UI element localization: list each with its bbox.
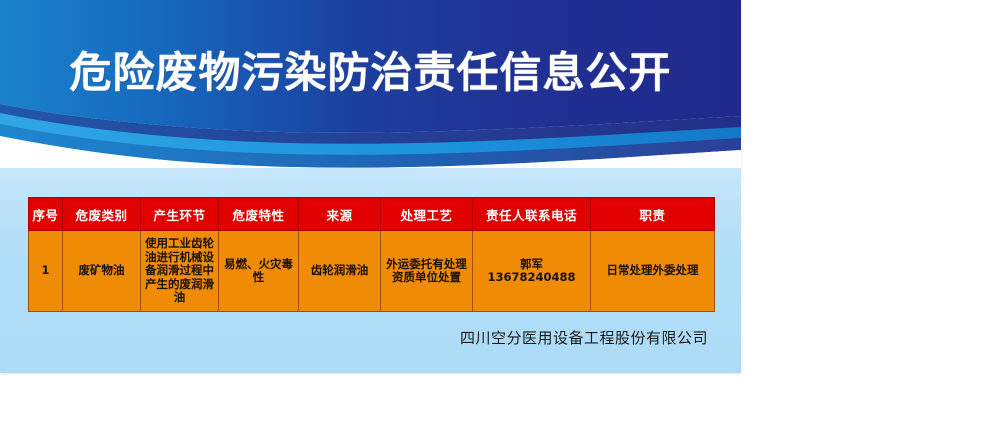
cell-duty: 日常处理外委处理	[591, 231, 715, 312]
cell-process: 外运委托有处理资质单位处置	[381, 231, 473, 312]
column-header-duty: 职责	[591, 198, 715, 231]
cell-category: 废矿物油	[63, 231, 141, 312]
column-header-process: 处理工艺	[381, 198, 473, 231]
hazardous-waste-poster: 危险废物污染防治责任信息公开 序号 危废类别 产生环节 危废特性 来源 处理工艺…	[0, 0, 741, 373]
cell-source: 齿轮润滑油	[299, 231, 381, 312]
contact-person-name: 郭军	[475, 258, 588, 272]
cell-stage: 使用工业齿轮油进行机械设备润滑过程中产生的废润滑油	[141, 231, 219, 312]
table-header-row: 序号 危废类别 产生环节 危废特性 来源 处理工艺 责任人联系电话 职责	[29, 198, 715, 231]
column-header-category: 危废类别	[63, 198, 141, 231]
company-name: 四川空分医用设备工程股份有限公司	[0, 328, 713, 348]
cell-contact: 郭军 13678240488	[473, 231, 591, 312]
column-header-property: 危废特性	[219, 198, 299, 231]
column-header-contact: 责任人联系电话	[473, 198, 591, 231]
screenshot-canvas: 危险废物污染防治责任信息公开 序号 危废类别 产生环节 危废特性 来源 处理工艺…	[0, 0, 1000, 442]
column-header-source: 来源	[299, 198, 381, 231]
cell-seq: 1	[29, 231, 63, 312]
table-row: 1 废矿物油 使用工业齿轮油进行机械设备润滑过程中产生的废润滑油 易燃、火灾毒性…	[29, 231, 715, 312]
contact-phone-number: 13678240488	[475, 271, 588, 285]
page-title: 危险废物污染防治责任信息公开	[0, 47, 741, 99]
column-header-stage: 产生环节	[141, 198, 219, 231]
hazardous-waste-table: 序号 危废类别 产生环节 危废特性 来源 处理工艺 责任人联系电话 职责 1 废…	[28, 197, 715, 312]
cell-property: 易燃、火灾毒性	[219, 231, 299, 312]
column-header-seq: 序号	[29, 198, 63, 231]
